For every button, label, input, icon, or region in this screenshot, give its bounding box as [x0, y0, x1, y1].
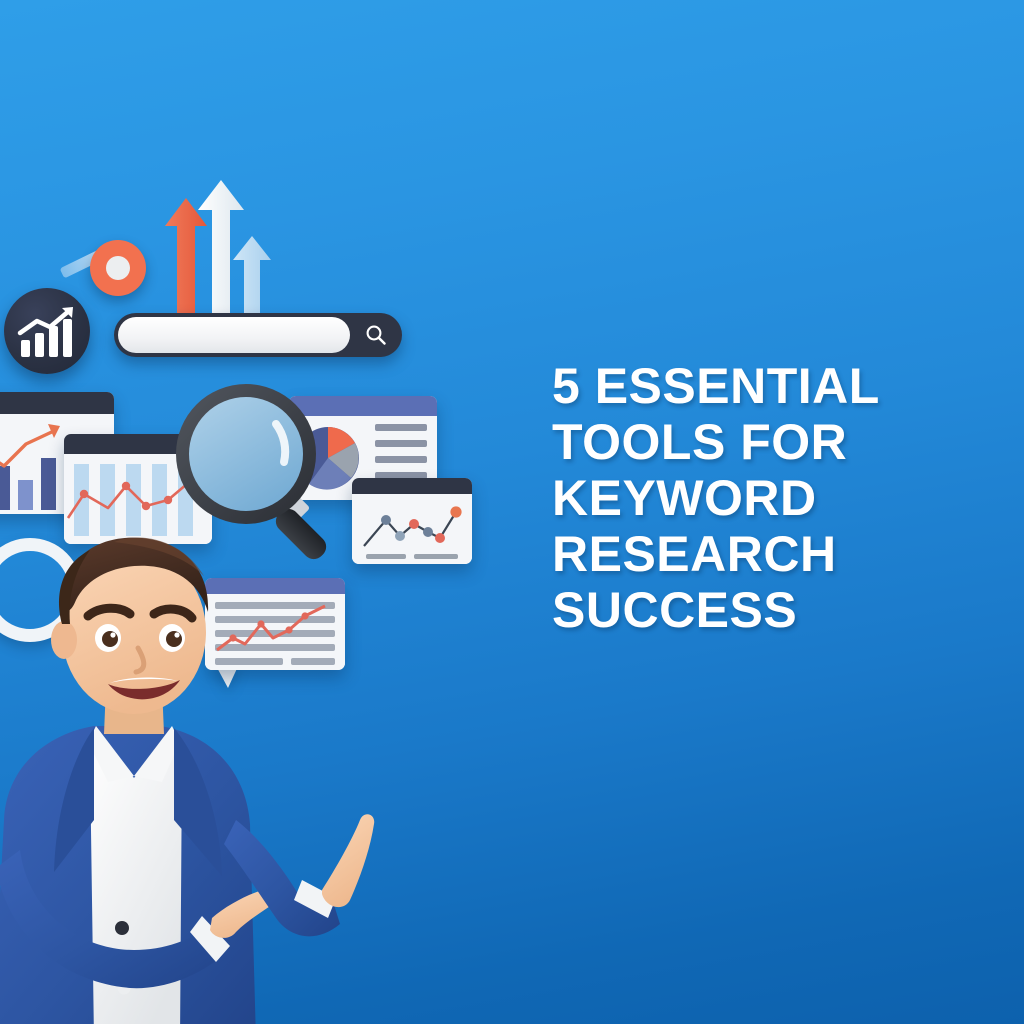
businessman-character — [0, 520, 384, 1024]
headline-line-1: 5 ESSENTIAL — [552, 358, 982, 414]
poster-canvas: 5 ESSENTIAL TOOLS FOR KEYWORD RESEARCH S… — [0, 0, 1024, 1024]
text-line — [375, 424, 427, 431]
text-line — [375, 440, 427, 447]
card-header — [0, 392, 114, 414]
search-input[interactable] — [118, 317, 350, 353]
text-line — [375, 456, 427, 463]
card-header — [352, 478, 472, 494]
arrow-up-lightblue-icon — [231, 234, 273, 322]
search-bar[interactable] — [114, 313, 402, 357]
analytics-badge-icon — [4, 288, 90, 374]
search-icon[interactable] — [364, 323, 388, 347]
page-title: 5 ESSENTIAL TOOLS FOR KEYWORD RESEARCH S… — [552, 358, 982, 638]
headline-line-4: RESEARCH — [552, 526, 982, 582]
headline-line-3: KEYWORD — [552, 470, 982, 526]
headline-line-2: TOOLS FOR — [552, 414, 982, 470]
bar-chart-growth-icon — [4, 288, 90, 374]
target-ring-icon — [90, 240, 146, 296]
headline-line-5: SUCCESS — [552, 582, 982, 638]
